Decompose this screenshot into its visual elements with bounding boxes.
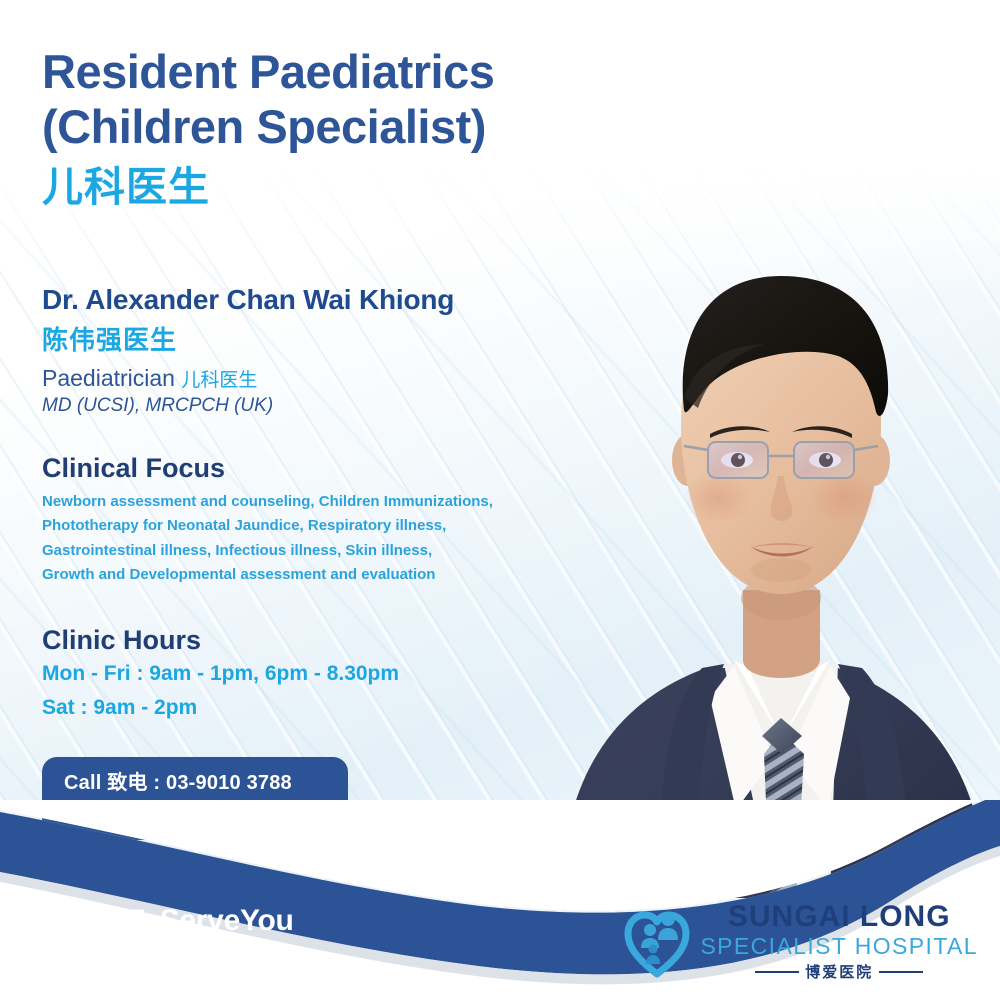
content-column: Resident Paediatrics (Children Specialis… [42, 0, 662, 840]
doctor-role-chinese: 儿科医生 [181, 370, 257, 391]
clinical-focus-line: Phototherapy for Neonatal Jaundice, Resp… [42, 514, 662, 538]
clinic-hours-weekday: Mon - Fri : 9am - 1pm, 6pm - 8.30pm [42, 658, 662, 690]
clinical-focus-heading: Clinical Focus [42, 453, 662, 484]
doctor-qualifications: MD (UCSI), MRCPCH (UK) [42, 395, 662, 417]
page-title: Resident Paediatrics (Children Specialis… [42, 44, 662, 155]
clinical-focus-line: Growth and Developmental assessment and … [42, 563, 662, 587]
logo-rule-left [755, 971, 799, 973]
hashtag-text: #HereToServeYou [44, 904, 294, 938]
logo-chinese-row: 博爱医院 [755, 961, 923, 982]
logo-rule-right [879, 971, 923, 973]
poster-canvas: Resident Paediatrics (Children Specialis… [0, 0, 1000, 1000]
contact-phone[interactable]: Call 致电 : 03-9010 3788 [64, 770, 326, 798]
title-line-2: (Children Specialist) [42, 99, 662, 154]
logo-name-chinese: 博爱医院 [805, 961, 873, 982]
hospital-logo: SUNGAI LONG SPECIALIST HOSPITAL 博爱医院 [624, 902, 978, 982]
clinic-hours-saturday: Sat : 9am - 2pm [42, 692, 662, 724]
doctor-role-english: Paediatrician [42, 365, 175, 391]
clinical-focus-body: Newborn assessment and counseling, Child… [42, 490, 662, 587]
logo-wordmark: SUNGAI LONG SPECIALIST HOSPITAL 博爱医院 [700, 902, 978, 982]
clinical-focus-line: Gastrointestinal illness, Infectious ill… [42, 539, 662, 563]
doctor-name: Dr. Alexander Chan Wai Khiong [42, 284, 662, 316]
title-chinese: 儿科医生 [42, 163, 662, 212]
title-line-1: Resident Paediatrics [42, 44, 662, 99]
heart-family-icon [624, 906, 690, 978]
clinic-hours-heading: Clinic Hours [42, 625, 662, 656]
logo-name-primary: SUNGAI LONG [728, 902, 951, 933]
doctor-role: Paediatrician 儿科医生 [42, 365, 662, 392]
clinical-focus-line: Newborn assessment and counseling, Child… [42, 490, 662, 514]
doctor-name-chinese: 陈伟强医生 [42, 320, 662, 357]
logo-name-secondary: SPECIALIST HOSPITAL [700, 934, 978, 959]
